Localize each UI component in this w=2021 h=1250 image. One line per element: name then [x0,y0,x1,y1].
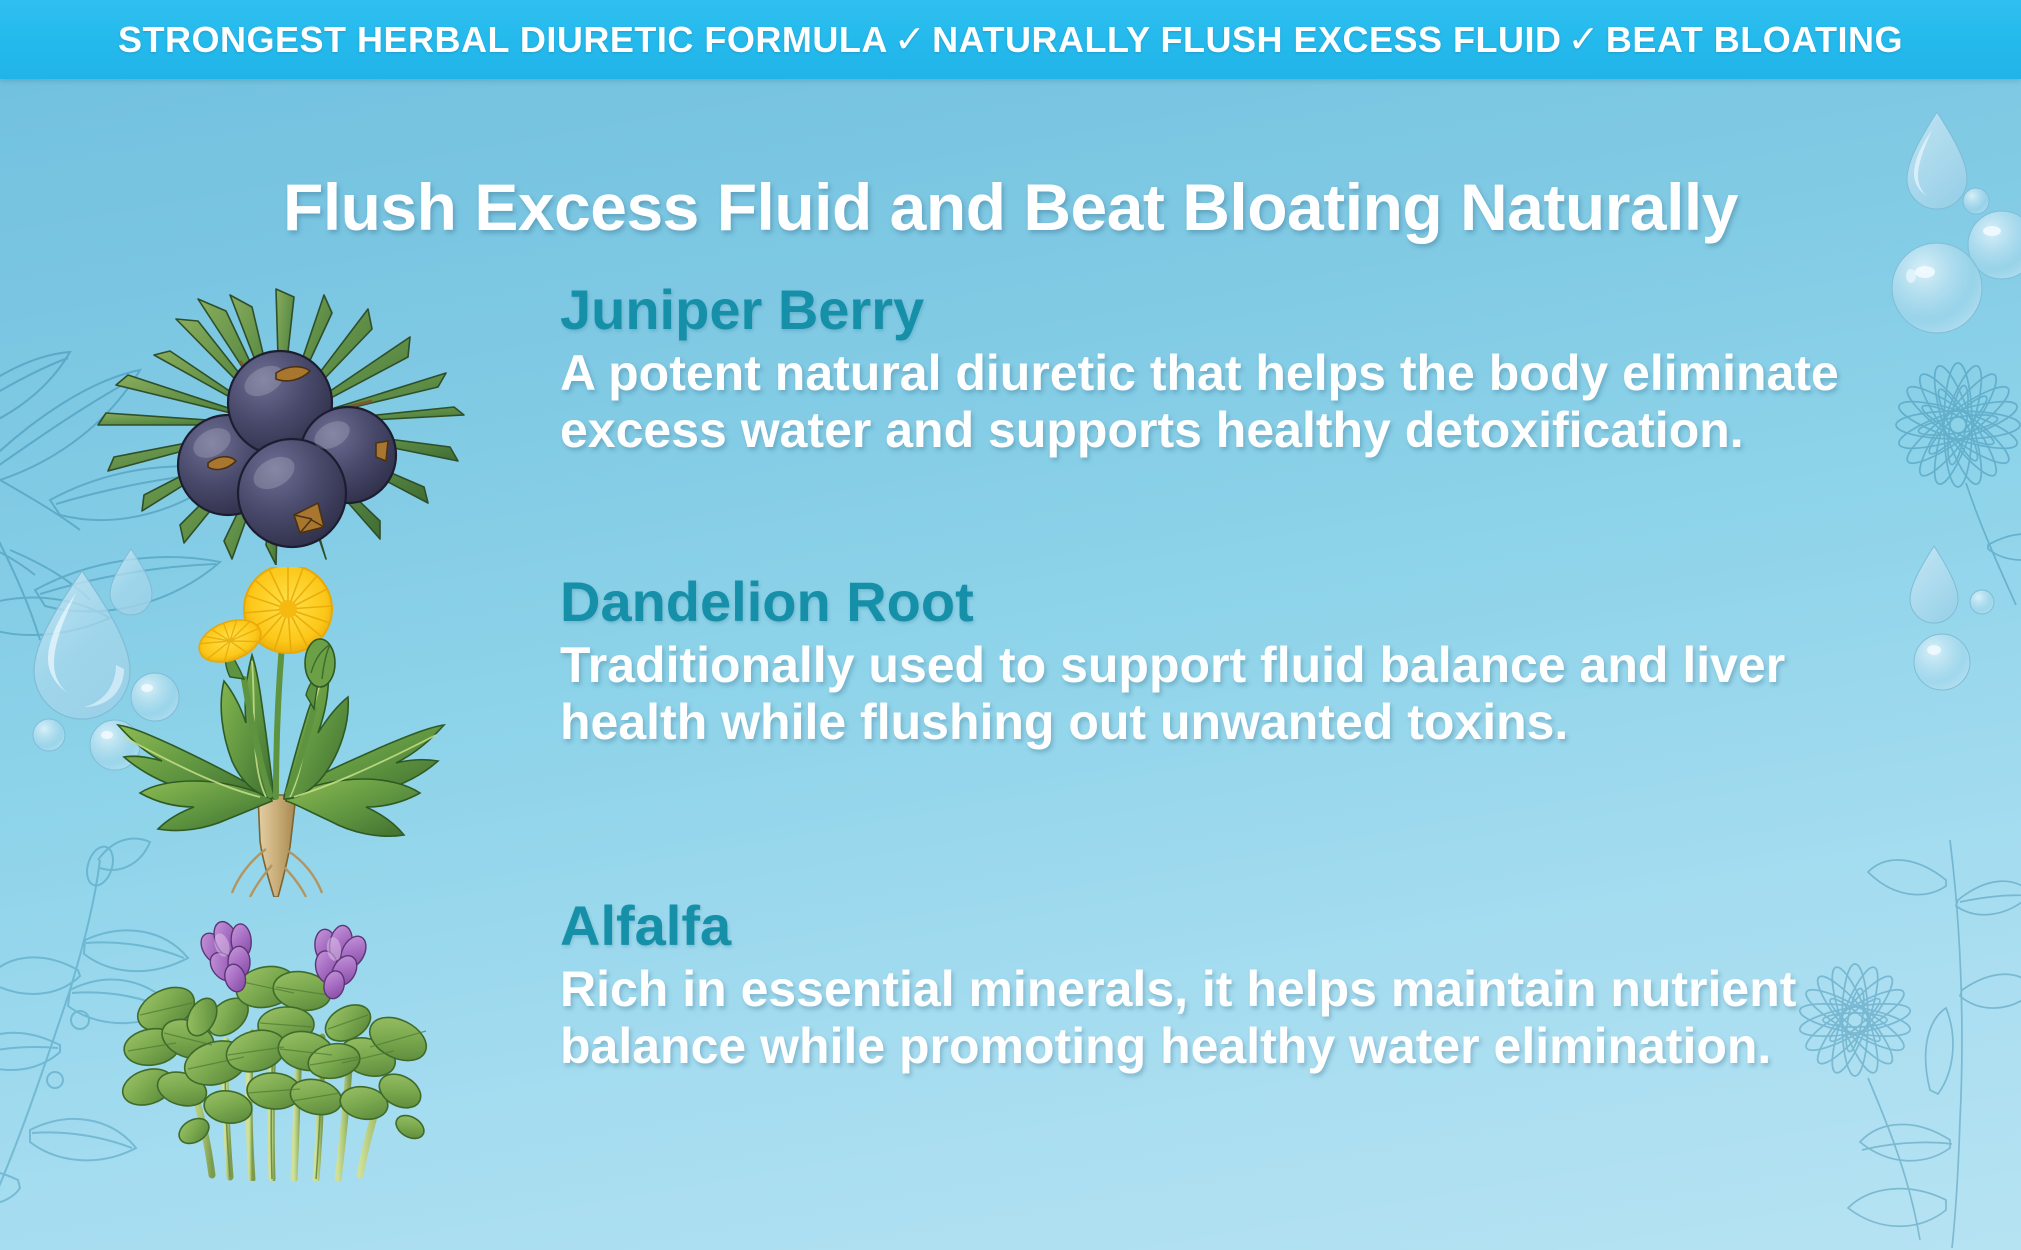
ingredient-row-dandelion-root: Dandelion Root Traditionally used to sup… [0,567,2021,897]
banner-text: STRONGEST HERBAL DIURETIC FORMULA✓NATURA… [118,17,1903,62]
dandelion-root-illustration [0,567,560,897]
banner-segment-2: NATURALLY FLUSH EXCESS FLUID [932,19,1561,60]
ingredient-description: A potent natural diuretic that helps the… [560,345,1850,459]
banner-segment-1: STRONGEST HERBAL DIURETIC FORMULA [118,19,888,60]
ingredient-row-alfalfa: Alfalfa Rich in essential minerals, it h… [0,891,2021,1191]
ingredient-list: Juniper Berry A potent natural diuretic … [0,275,2021,1191]
ingredient-copy-dandelion-root: Dandelion Root Traditionally used to sup… [560,567,1910,751]
ingredient-row-juniper-berry: Juniper Berry A potent natural diuretic … [0,275,2021,575]
banner-segment-3: BEAT BLOATING [1606,19,1903,60]
ingredient-description: Traditionally used to support fluid bala… [560,637,1850,751]
alfalfa-illustration [0,891,560,1181]
page-title: Flush Excess Fluid and Beat Bloating Nat… [0,169,2021,245]
ingredient-description: Rich in essential minerals, it helps mai… [560,961,1850,1075]
check-icon-1: ✓ [888,19,932,61]
poster-root: STRONGEST HERBAL DIURETIC FORMULA✓NATURA… [0,0,2021,1250]
ingredient-copy-alfalfa: Alfalfa Rich in essential minerals, it h… [560,891,1910,1075]
ingredient-name: Juniper Berry [560,281,1850,339]
ingredient-name: Dandelion Root [560,573,1850,631]
top-banner: STRONGEST HERBAL DIURETIC FORMULA✓NATURA… [0,0,2021,79]
ingredient-copy-juniper-berry: Juniper Berry A potent natural diuretic … [560,275,1910,459]
ingredient-name: Alfalfa [560,897,1850,955]
check-icon-2: ✓ [1562,19,1606,61]
juniper-berry-illustration [0,275,560,565]
